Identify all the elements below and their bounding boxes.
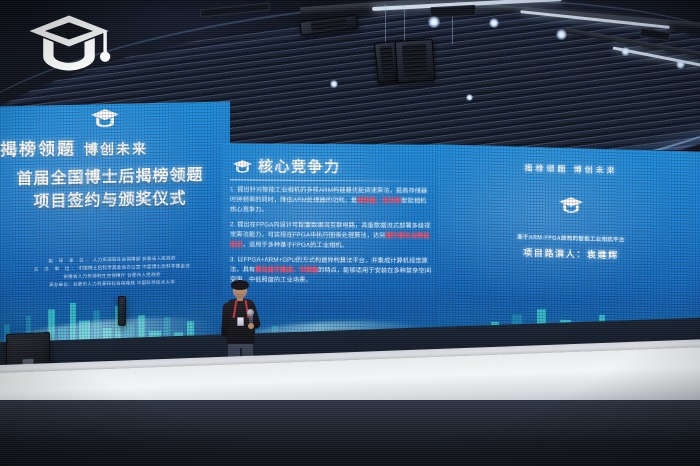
graduation-cap-icon	[558, 196, 584, 215]
left-slogan-main: 揭榜领题	[0, 139, 76, 159]
graduation-cap-icon	[90, 108, 120, 129]
venue-graduation-cap-logo	[26, 12, 112, 74]
spotlight	[621, 47, 630, 56]
rigging-wire	[385, 4, 386, 44]
microphone-icon	[247, 309, 254, 316]
heading-underline	[230, 179, 428, 181]
right-screen-presenter: 项目路演人：袁建辉	[437, 243, 700, 263]
center-screen-body: 1. 提出针对智能工业相机的多核ARM构建最优能调速算法，提高存储器时钟频率的同…	[230, 185, 432, 292]
spotlight	[676, 60, 685, 69]
left-title-line2: 项目签约与颁奖仪式	[0, 187, 230, 216]
bullet-index: 1.	[230, 186, 235, 193]
left-slogan-sub: 博创未来	[84, 141, 148, 158]
presenter-name: 袁建辉	[587, 249, 619, 260]
center-heading-text: 核心竞争力	[258, 156, 341, 178]
right-screen-slogan: 揭榜领题 博创未来	[437, 160, 700, 178]
spotlight	[330, 80, 338, 88]
conference-stage-photo: 揭榜领题博创未来 首届全国博士后揭榜领题 项目签约与颁奖仪式 指 导 单 位：人…	[0, 0, 700, 466]
bullet-highlight: 算法易于集成、可移植	[255, 267, 318, 274]
bullet-item: 2. 提出在FPGA内设计可配置数据流互联电路，具备数据流式部署多级视觉算法能力…	[230, 220, 432, 252]
presenter-label: 项目路演人：	[523, 248, 587, 260]
presenter-hair	[231, 280, 249, 290]
spotlight	[489, 18, 499, 28]
left-screen-credits: 指 导 单 位：人力资源和社会保障部 安徽省人民政府 主 办 单 位：中国博士后…	[6, 254, 218, 291]
bullet-index: 3.	[230, 257, 235, 264]
stage-equipment-case	[118, 296, 126, 326]
name-badge	[237, 317, 244, 326]
floor-reflection	[0, 400, 700, 440]
spotlight	[428, 16, 440, 28]
hanging-line-array-speaker	[395, 39, 436, 84]
spotlight	[556, 29, 567, 40]
bullet-index: 2.	[230, 221, 235, 228]
left-screen-slogan: 揭榜领题博创未来	[0, 133, 226, 161]
left-screen-title: 首届全国博士后揭榜领题 项目签约与颁奖仪式	[0, 163, 230, 215]
bullet-item: 1. 提出针对智能工业相机的多核ARM构建最优能调速算法，提高存储器时钟频率的同…	[230, 185, 432, 217]
bullet-post: ，适用于多种基于FPGA的工业相机。	[243, 242, 348, 250]
bullet-highlight: 高性能、低功耗	[357, 197, 401, 204]
presenter-hand	[248, 323, 254, 329]
center-screen-heading: 核心竞争力	[232, 155, 341, 177]
graduation-cap-icon	[232, 159, 253, 173]
